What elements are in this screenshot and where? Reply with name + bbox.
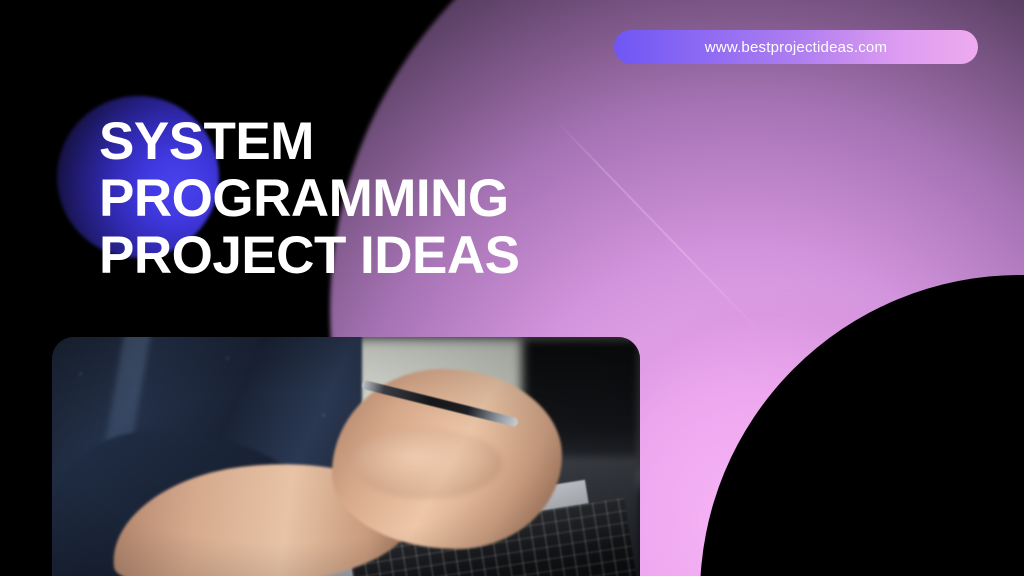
photo-vignette (52, 337, 640, 576)
title-line-3: PROJECT IDEAS (99, 227, 520, 284)
website-url-text: www.bestprojectideas.com (705, 39, 887, 56)
promo-banner: www.bestprojectideas.com SYSTEM PROGRAMM… (0, 0, 1024, 576)
title-line-1: SYSTEM (99, 113, 520, 170)
title-line-2: PROGRAMMING (99, 170, 520, 227)
hero-photo-image (52, 337, 640, 576)
page-title: SYSTEM PROGRAMMING PROJECT IDEAS (99, 113, 520, 284)
website-url-badge[interactable]: www.bestprojectideas.com (614, 30, 978, 64)
hero-photo-card (52, 337, 640, 576)
